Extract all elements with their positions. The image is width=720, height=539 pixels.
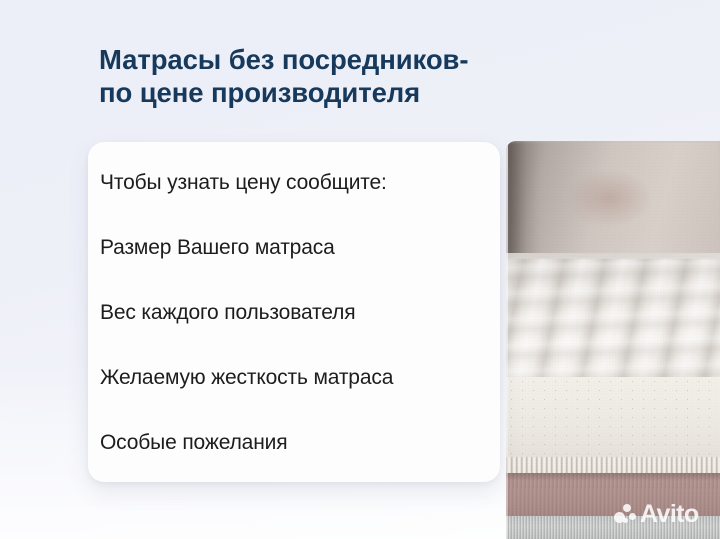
requirements-list: Чтобы узнать цену сообщите: Размер Вашег… [88,142,500,456]
listing-image: Avito Матрасы без посредников- по цене п… [0,0,720,539]
list-item: Особые пожелания [100,430,500,456]
page-title: Матрасы без посредников- по цене произво… [99,43,519,109]
floor-strip [506,516,720,539]
list-item: Размер Вашего матраса [100,235,500,261]
list-item: Вес каждого пользователя [100,300,500,326]
photo-left-edge [506,141,508,539]
mattress-quilt-rows [506,261,720,389]
bed-base-top-shadow [506,473,720,481]
list-item-intro: Чтобы узнать цену сообщите: [100,170,500,196]
list-item: Желаемую жесткость матраса [100,365,500,391]
info-card: Чтобы узнать цену сообщите: Размер Вашег… [88,142,500,482]
mattress-photo [506,141,720,539]
photo-content [506,141,720,539]
